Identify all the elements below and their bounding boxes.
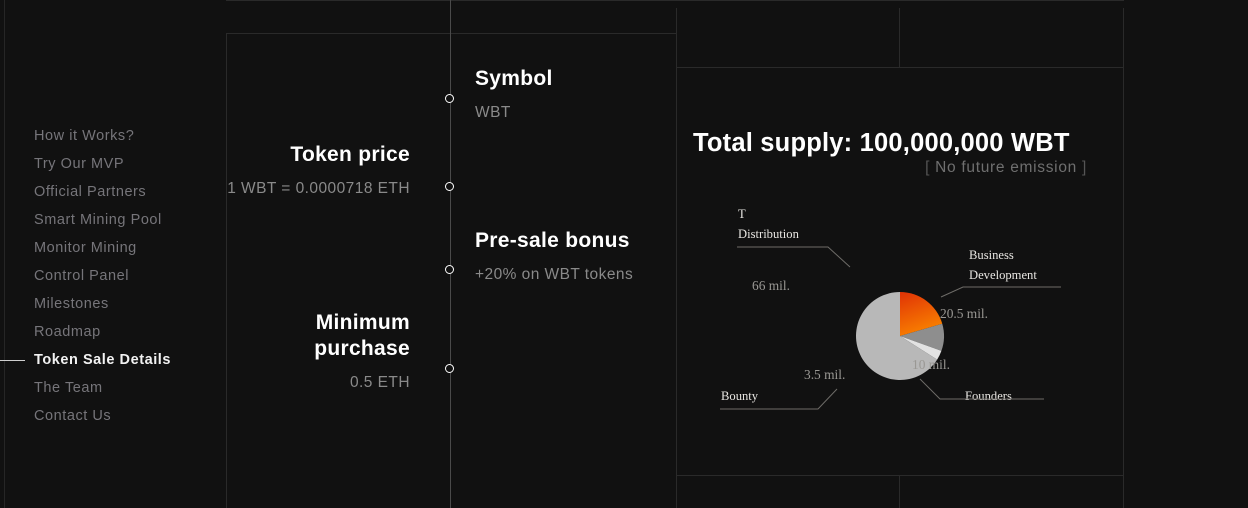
callout-label-token-distribution-2: Distribution [738,227,800,241]
sidebar-item-token-sale-details[interactable]: Token Sale Details [0,346,226,374]
sidebar-item-label: How it Works? [34,128,134,144]
pie-chart-svg: T Distribution 66 mil. Business Developm… [676,197,1124,475]
grid-rule-top-right-edge [1123,8,1124,67]
timeline-marker [445,364,454,373]
token-distribution-chart: T Distribution 66 mil. Business Developm… [676,197,1124,475]
timeline-entry-value: +20% on WBT tokens [475,265,661,285]
timeline-entry-value: WBT [475,103,661,123]
center-column-header-rule [226,33,676,34]
sidebar-item-official-partners[interactable]: Official Partners [0,178,226,206]
callout-line-token-distribution [737,247,850,267]
center-column-left-rule [226,33,227,508]
callout-line-business-development [941,287,1061,297]
bracket-close: ] [1082,159,1087,176]
token-sale-timeline: SymbolWBTToken price1 WBT = 0.0000718 ET… [226,0,676,508]
timeline-entry: Token price1 WBT = 0.0000718 ETH [226,142,436,199]
grid-rule-top-left-edge [676,8,677,67]
sidebar-item-monitor-mining[interactable]: Monitor Mining [0,234,226,262]
total-supply-panel: Total supply: 100,000,000 WBT [ No futur… [676,67,1124,475]
timeline-entry: SymbolWBT [451,66,661,123]
sidebar-item-label: The Team [34,380,103,396]
sidebar-item-how-it-works[interactable]: How it Works? [0,122,226,150]
timeline-entry-value: 0.5 ETH [226,373,410,393]
sidebar-item-label: Roadmap [34,324,101,340]
timeline-entry: Pre-sale bonus+20% on WBT tokens [451,228,661,285]
sidebar-item-contact-us[interactable]: Contact Us [0,402,226,430]
timeline-entry-title: Token price [226,142,410,168]
no-future-emission-note: [ No future emission ] [925,159,1087,177]
sidebar-item-milestones[interactable]: Milestones [0,290,226,318]
sidebar-item-label: Milestones [34,296,109,312]
callout-value-founders: 10 mil. [912,357,950,372]
callout-label-business-development: Business [969,248,1014,262]
sidebar-item-label: Official Partners [34,184,146,200]
timeline-entry-title: Pre-sale bonus [475,228,661,254]
sidebar-item-the-team[interactable]: The Team [0,374,226,402]
callout-label-founders: Founders [965,389,1012,403]
callout-value-token-distribution: 66 mil. [752,278,790,293]
sidebar-item-label: Contact Us [34,408,111,424]
callout-label-token-distribution: T [738,207,746,221]
callout-label-bounty: Bounty [721,389,759,403]
sidebar-nav: How it Works?Try Our MVPOfficial Partner… [0,122,226,430]
grid-rule-top-cell-divider [899,8,900,67]
page-title: Total supply: 100,000,000 WBT [693,129,1070,158]
grid-rule-panel-bottom [676,475,1124,476]
center-column-top-rule [226,0,676,1]
callout-label-business-development-2: Development [969,268,1037,282]
sidebar-item-label: Smart Mining Pool [34,212,162,228]
grid-rule-bottom-left-edge [676,475,677,508]
timeline-entry-title: Symbol [475,66,661,92]
sidebar-item-label: Try Our MVP [34,156,124,172]
callout-value-bounty: 3.5 mil. [804,367,845,382]
grid-rule-top-horizontal [676,0,1124,1]
callout-value-business-development: 20.5 mil. [940,306,988,321]
sidebar-item-label: Control Panel [34,268,129,284]
timeline-entry-value: 1 WBT = 0.0000718 ETH [226,179,410,199]
timeline-entry: Minimum purchase0.5 ETH [226,310,436,393]
grid-rule-bottom-cell-divider [899,475,900,508]
sidebar-item-label: Token Sale Details [34,352,171,368]
timeline-entry-title: Minimum purchase [226,310,410,362]
sidebar-item-smart-mining-pool[interactable]: Smart Mining Pool [0,206,226,234]
sidebar-item-label: Monitor Mining [34,240,137,256]
timeline-marker [445,182,454,191]
sidebar-item-try-our-mvp[interactable]: Try Our MVP [0,150,226,178]
note-text: No future emission [935,159,1077,176]
active-item-marker [0,360,25,361]
grid-rule-bottom-right-edge [1123,475,1124,508]
bracket-open: [ [925,159,930,176]
sidebar-item-roadmap[interactable]: Roadmap [0,318,226,346]
sidebar-item-control-panel[interactable]: Control Panel [0,262,226,290]
